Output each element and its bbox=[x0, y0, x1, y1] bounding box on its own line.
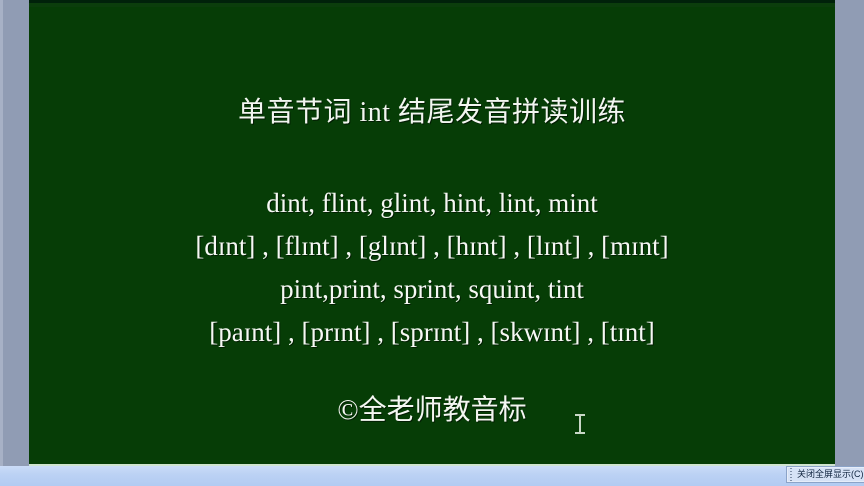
slide-title: 单音节词 int 结尾发音拼读训练 bbox=[29, 96, 835, 130]
drag-grip-icon[interactable] bbox=[789, 468, 793, 481]
text-cursor-icon bbox=[575, 414, 585, 434]
screen: 单音节词 int 结尾发音拼读训练 dint, flint, glint, hi… bbox=[0, 0, 864, 486]
ibeam-cap-bottom bbox=[575, 432, 585, 434]
word-line-ipa-1: [dɪnt] , [flɪnt] , [glɪnt] , [hɪnt] , [l… bbox=[29, 225, 835, 268]
taskbar[interactable] bbox=[0, 466, 864, 486]
copyright-signature: ©全老师教音标 bbox=[29, 392, 835, 430]
slide-bottom-rule bbox=[29, 464, 835, 466]
exit-fullscreen-toolbar[interactable]: 关闭全屏显示(C) bbox=[786, 466, 864, 483]
word-line-ipa-2: [paɪnt] , [prɪnt] , [sprɪnt] , [skwɪnt] … bbox=[29, 311, 835, 354]
presentation-slide[interactable]: 单音节词 int 结尾发音拼读训练 dint, flint, glint, hi… bbox=[29, 0, 835, 466]
word-list: dint, flint, glint, hint, lint, mint [dɪ… bbox=[29, 182, 835, 354]
letterbox-band-left bbox=[3, 0, 29, 466]
word-line-words-1: dint, flint, glint, hint, lint, mint bbox=[29, 182, 835, 225]
ibeam-stem bbox=[579, 416, 581, 432]
exit-fullscreen-button[interactable]: 关闭全屏显示(C) bbox=[795, 468, 864, 481]
slide-content: 单音节词 int 结尾发音拼读训练 dint, flint, glint, hi… bbox=[29, 0, 835, 466]
letterbox-band-right bbox=[835, 0, 864, 466]
word-line-words-2: pint,print, sprint, squint, tint bbox=[29, 268, 835, 311]
